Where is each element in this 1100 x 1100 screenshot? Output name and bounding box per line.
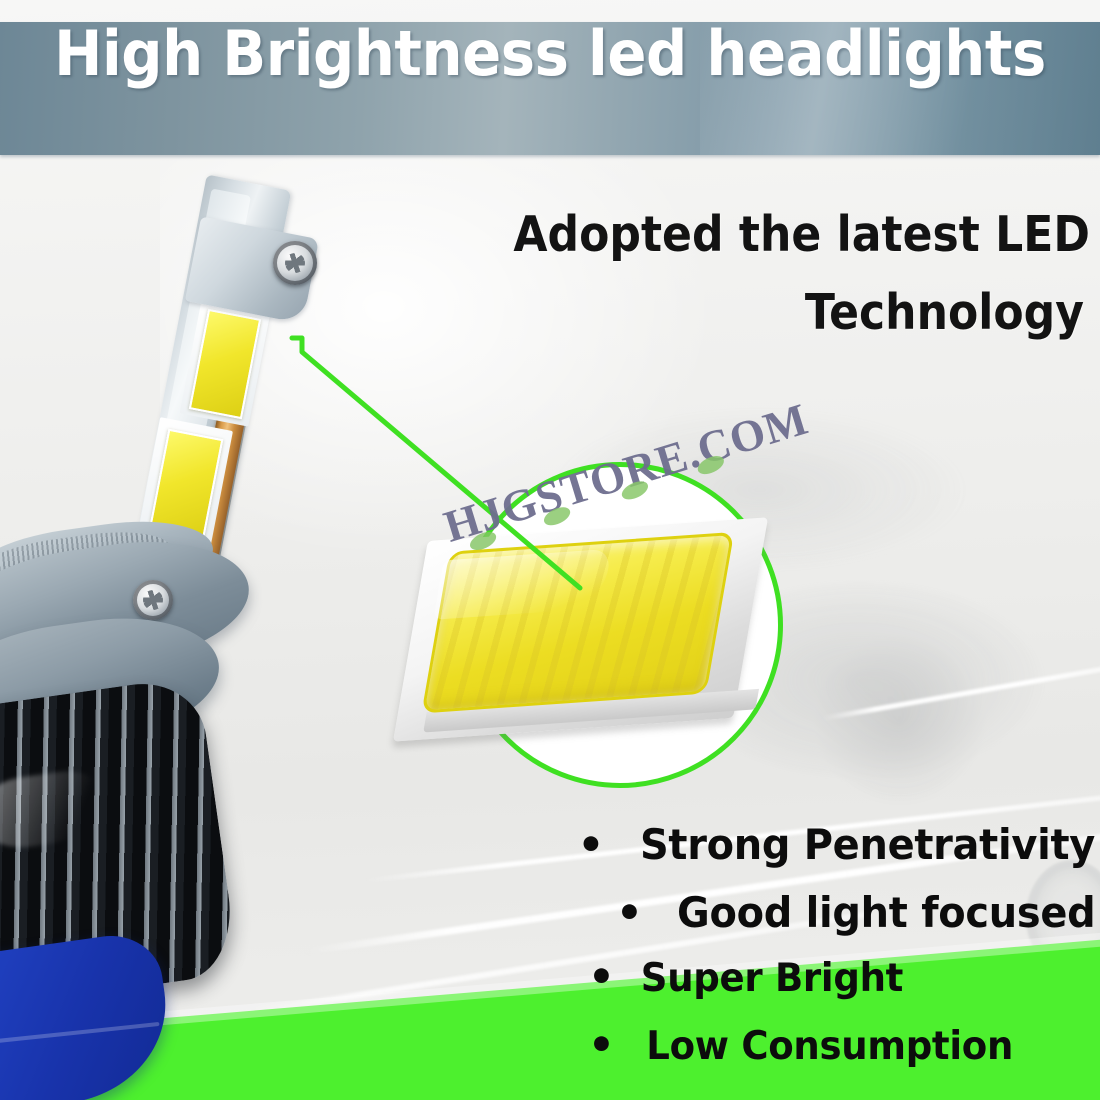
feature-item: • Super Bright: [570, 956, 1095, 1024]
feature-label: Low Consumption: [646, 1024, 1013, 1069]
bullet-icon: •: [588, 1024, 615, 1066]
headline-block: Adopted the latest LED Technology: [513, 196, 1084, 353]
bullet-icon: •: [577, 824, 604, 866]
feature-label: Super Bright: [640, 956, 902, 1001]
page-title: High Brightness led headlights: [39, 17, 1062, 90]
bullet-icon: •: [588, 956, 615, 998]
headline-line-2: Technology: [513, 274, 1084, 352]
feature-item: • Good light focused: [570, 888, 1095, 956]
feature-item: • Strong Penetrativity: [570, 820, 1095, 888]
torx-screw-icon: [273, 241, 317, 285]
torx-screw-icon: [133, 580, 173, 620]
feature-item: • Low Consumption: [570, 1024, 1095, 1092]
bulb-blue-ring: [0, 929, 178, 1100]
feature-label: Strong Penetrativity: [640, 820, 1095, 869]
led-bulb-product: [0, 175, 360, 1100]
bullet-icon: •: [616, 892, 643, 934]
feature-list: • Strong Penetrativity • Good light focu…: [570, 820, 1095, 1092]
feature-label: Good light focused: [677, 888, 1095, 937]
headline-line-1: Adopted the latest LED: [513, 196, 1084, 274]
product-banner: High Brightness led headlights Adopted t…: [0, 0, 1100, 1100]
